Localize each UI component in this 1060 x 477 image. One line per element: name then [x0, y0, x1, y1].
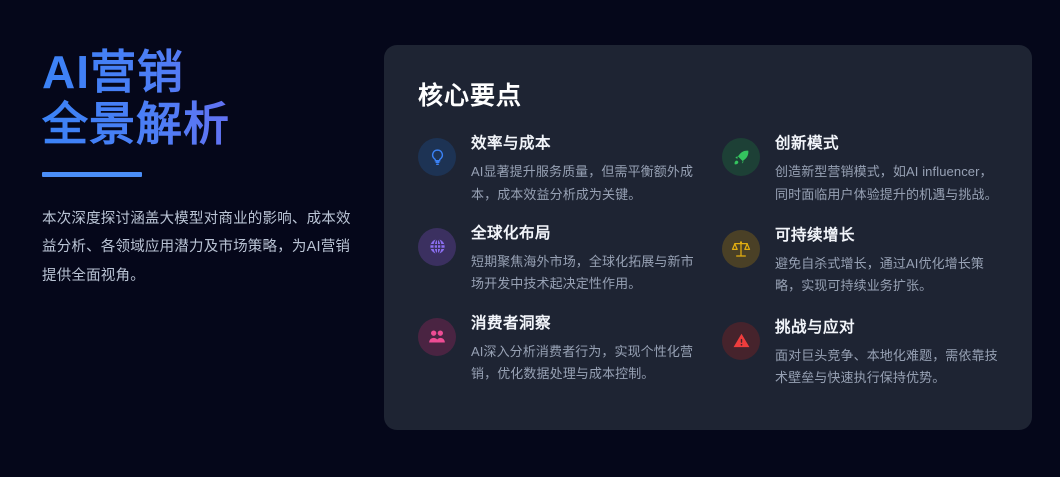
key-point-title: 可持续增长 [775, 226, 1004, 246]
key-points-column-right: 创新模式 创造新型营销模式，如AI influencer，同时面临用户体验提升的… [722, 134, 1004, 410]
key-point-item[interactable]: 效率与成本 AI显著提升服务质量，但需平衡额外成本，成本效益分析成为关键。 [418, 134, 700, 206]
key-point-description: 面对巨头竞争、本地化难题，需依靠技术壁垒与快速执行保持优势。 [775, 345, 1004, 390]
key-point-body: 消费者洞察 AI深入分析消费者行为，实现个性化营销，优化数据处理与成本控制。 [471, 314, 700, 386]
rocket-icon [732, 148, 751, 167]
title-accent-bar [42, 172, 142, 177]
key-point-body: 可持续增长 避免自杀式增长，通过AI优化增长策略，实现可持续业务扩张。 [775, 226, 1004, 298]
users-icon [427, 327, 447, 347]
globe-icon-badge [418, 228, 456, 266]
rocket-icon-badge [722, 138, 760, 176]
left-panel: AI营销 全景解析 本次深度探讨涵盖大模型对商业的影响、成本效益分析、各领域应用… [0, 0, 384, 290]
key-points-grid: 效率与成本 AI显著提升服务质量，但需平衡额外成本，成本效益分析成为关键。 [384, 112, 1032, 410]
key-point-body: 全球化布局 短期聚焦海外市场，全球化拓展与新市场开发中技术起决定性作用。 [471, 224, 700, 296]
users-icon-badge [418, 318, 456, 356]
key-points-column-left: 效率与成本 AI显著提升服务质量，但需平衡额外成本，成本效益分析成为关键。 [418, 134, 700, 410]
key-point-body: 挑战与应对 面对巨头竞争、本地化难题，需依靠技术壁垒与快速执行保持优势。 [775, 318, 1004, 390]
page-title: AI营销 全景解析 [42, 47, 360, 150]
key-point-description: AI深入分析消费者行为，实现个性化营销，优化数据处理与成本控制。 [471, 341, 700, 386]
key-point-description: 避免自杀式增长，通过AI优化增长策略，实现可持续业务扩张。 [775, 253, 1004, 298]
key-point-item[interactable]: 可持续增长 避免自杀式增长，通过AI优化增长策略，实现可持续业务扩张。 [722, 226, 1004, 298]
key-point-title: 效率与成本 [471, 134, 700, 154]
key-point-title: 挑战与应对 [775, 318, 1004, 338]
key-point-item[interactable]: 消费者洞察 AI深入分析消费者行为，实现个性化营销，优化数据处理与成本控制。 [418, 314, 700, 386]
key-point-title: 消费者洞察 [471, 314, 700, 334]
key-point-description: 短期聚焦海外市场，全球化拓展与新市场开发中技术起决定性作用。 [471, 251, 700, 296]
key-point-item[interactable]: 全球化布局 短期聚焦海外市场，全球化拓展与新市场开发中技术起决定性作用。 [418, 224, 700, 296]
warning-triangle-icon [732, 331, 751, 350]
lightbulb-icon-badge [418, 138, 456, 176]
key-point-item[interactable]: 挑战与应对 面对巨头竞争、本地化难题，需依靠技术壁垒与快速执行保持优势。 [722, 318, 1004, 390]
key-point-description: 创造新型营销模式，如AI influencer，同时面临用户体验提升的机遇与挑战… [775, 161, 1004, 206]
key-point-item[interactable]: 创新模式 创造新型营销模式，如AI influencer，同时面临用户体验提升的… [722, 134, 1004, 206]
key-point-title: 全球化布局 [471, 224, 700, 244]
key-point-body: 效率与成本 AI显著提升服务质量，但需平衡额外成本，成本效益分析成为关键。 [471, 134, 700, 206]
key-points-card: 核心要点 效率与成本 AI显著提升服务质量，但需平衡额外成本，成本效益分析成为关… [384, 45, 1032, 430]
card-title: 核心要点 [384, 45, 1032, 112]
scales-icon-badge [722, 230, 760, 268]
key-point-body: 创新模式 创造新型营销模式，如AI influencer，同时面临用户体验提升的… [775, 134, 1004, 206]
slide-root: AI营销 全景解析 本次深度探讨涵盖大模型对商业的影响、成本效益分析、各领域应用… [0, 0, 1060, 477]
intro-paragraph: 本次深度探讨涵盖大模型对商业的影响、成本效益分析、各领域应用潜力及市场策略，为A… [42, 205, 354, 290]
key-point-description: AI显著提升服务质量，但需平衡额外成本，成本效益分析成为关键。 [471, 161, 700, 206]
key-point-title: 创新模式 [775, 134, 1004, 154]
warning-triangle-icon-badge [722, 322, 760, 360]
scales-icon [731, 239, 751, 259]
lightbulb-icon [428, 148, 447, 167]
globe-icon [428, 237, 447, 256]
